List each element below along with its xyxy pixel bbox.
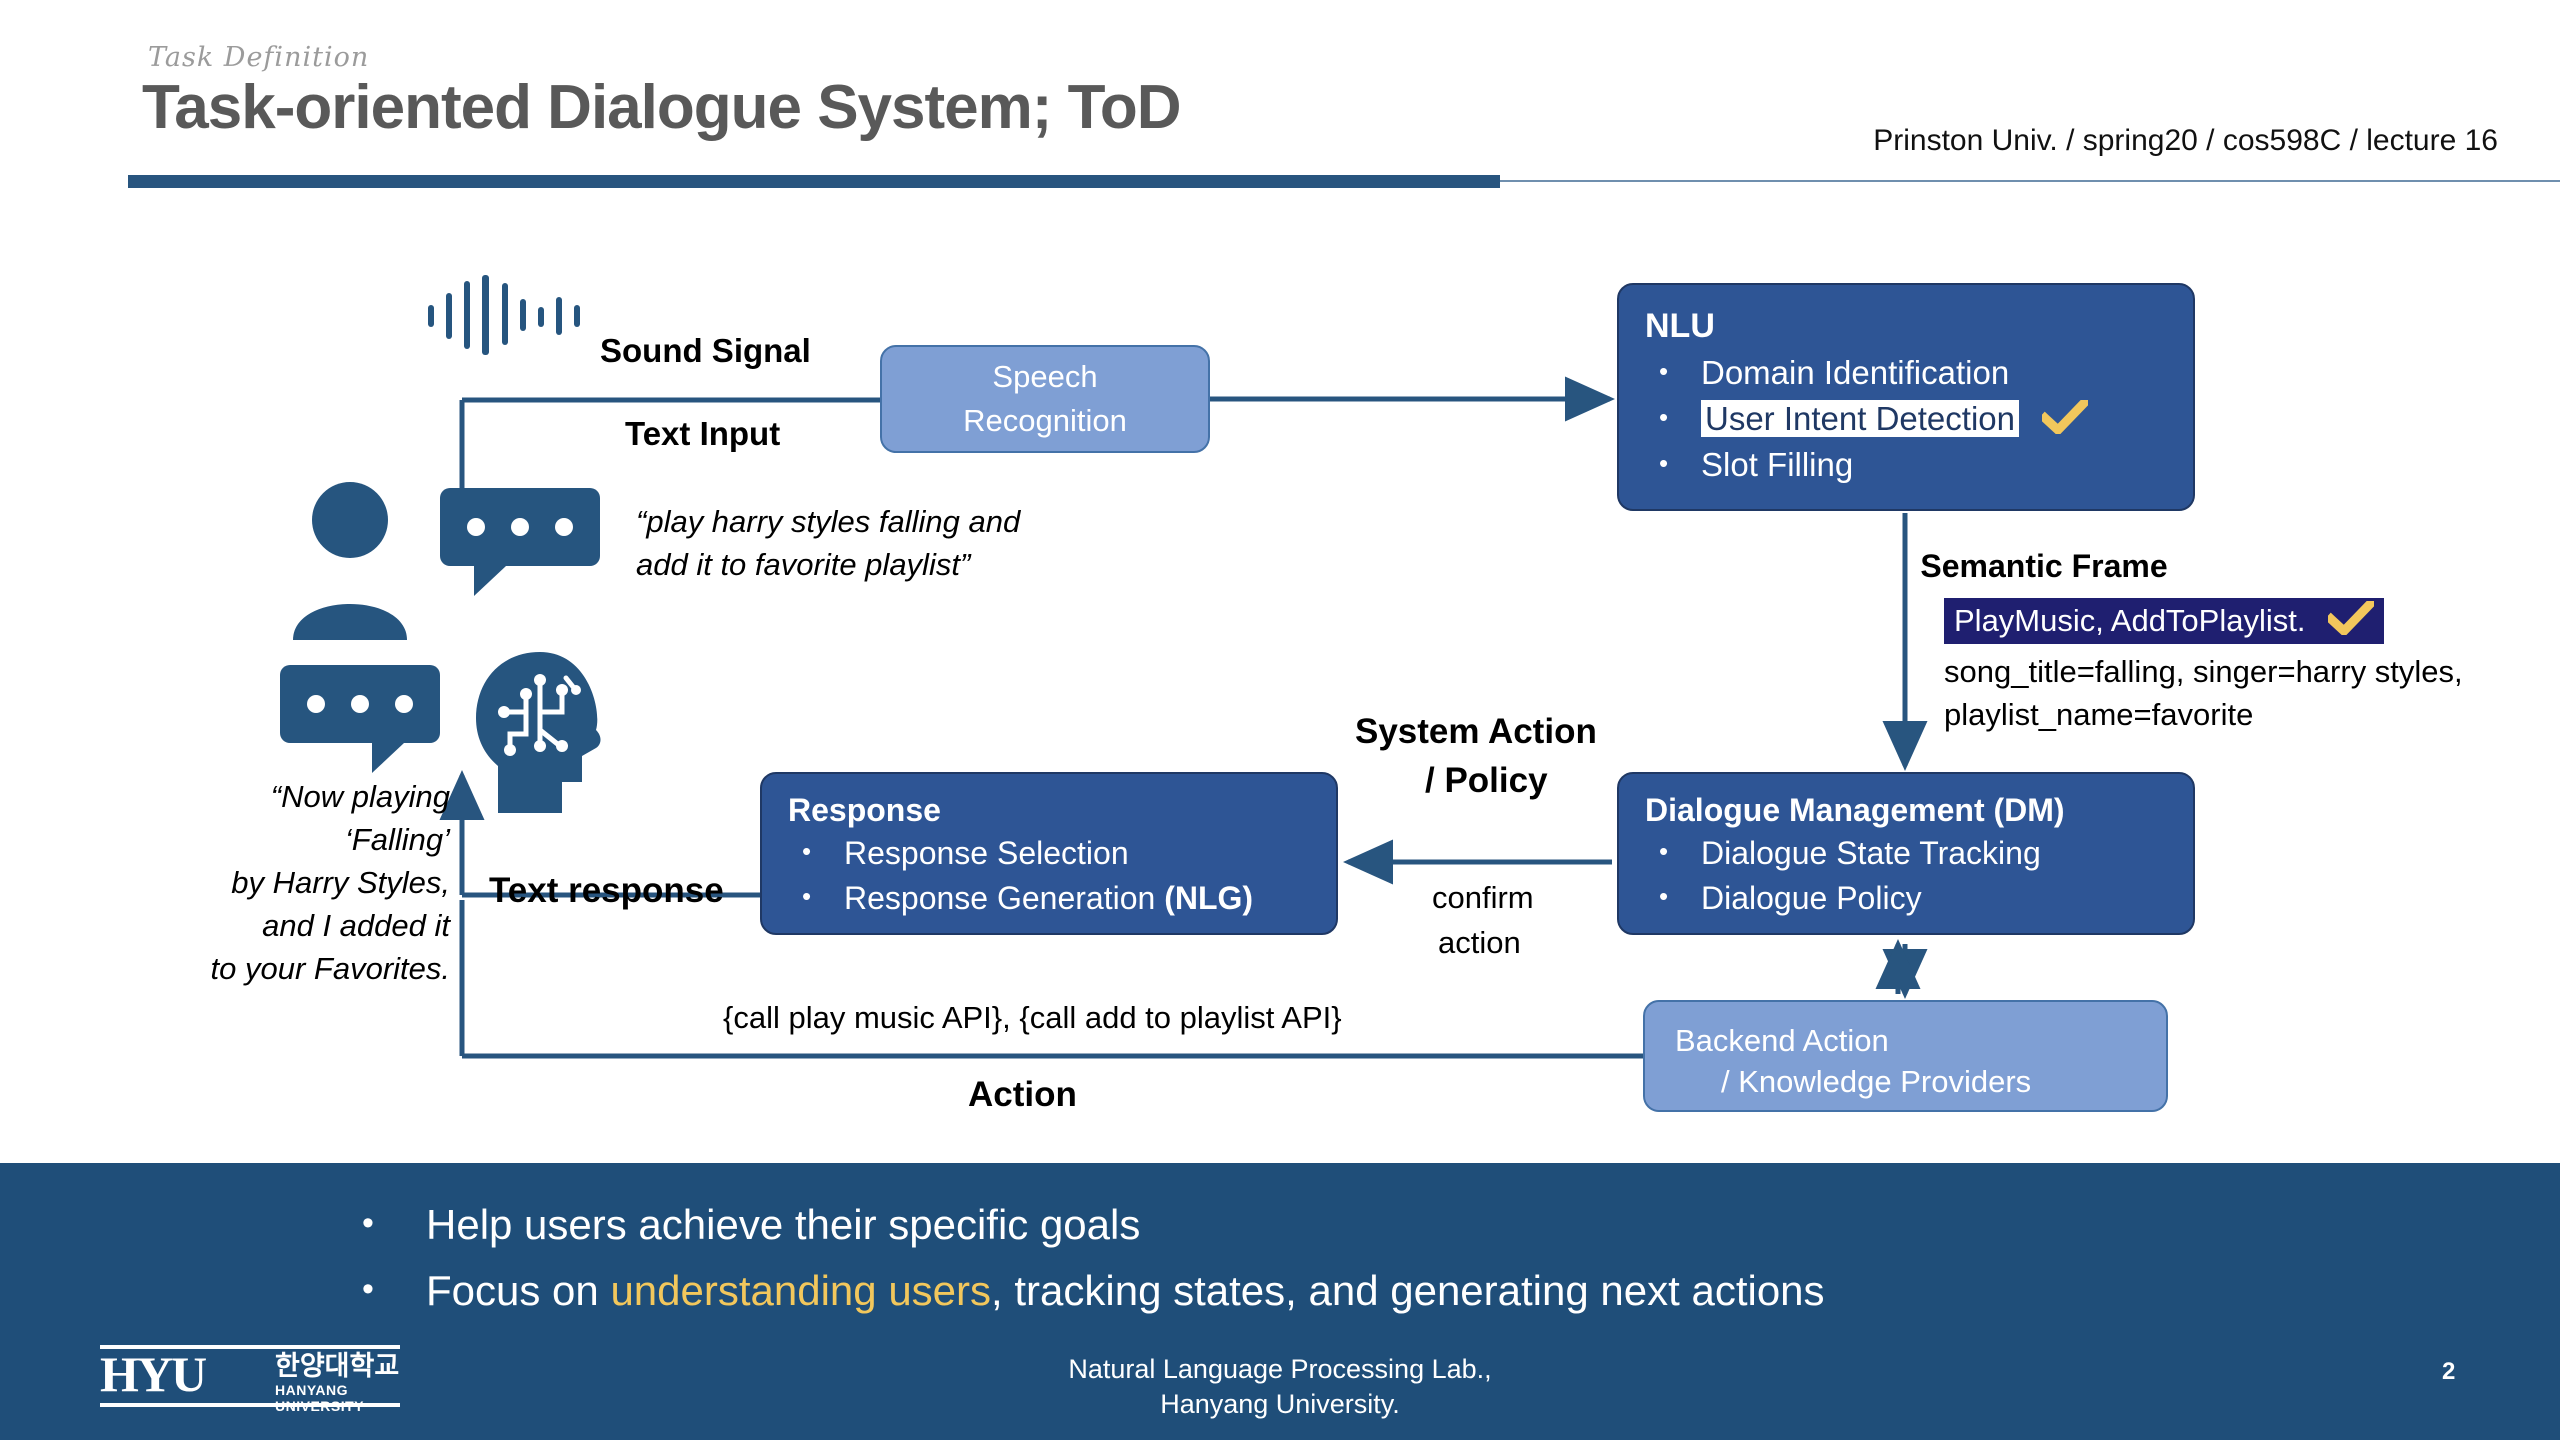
- response-item-response-generation[interactable]: Response Generation (NLG): [788, 876, 1310, 921]
- title-underline-thin: [1500, 180, 2560, 182]
- summary-bullet-1-text: Help users achieve their specific goals: [426, 1201, 1140, 1248]
- slide-kicker: Task Definition: [148, 42, 369, 73]
- summary-bullet-1: Help users achieve their specific goals: [352, 1192, 1825, 1258]
- sound-wave-icon: [428, 275, 618, 355]
- semantic-frame-intents: PlayMusic, AddToPlaylist.: [1954, 603, 2305, 638]
- ai-brain-head-icon: [470, 650, 610, 815]
- speech-recognition-box[interactable]: Speech Recognition: [880, 345, 1210, 453]
- system-action-label-line1: System Action: [1355, 712, 1597, 752]
- dm-item-dialogue-policy[interactable]: Dialogue Policy: [1645, 876, 2167, 921]
- nlu-item-list: Domain Identification User Intent Detect…: [1645, 350, 2167, 488]
- system-action-label-line2: / Policy: [1425, 761, 1548, 801]
- hyu-logo-korean: 한양대학교: [275, 1351, 399, 1381]
- course-info: Prinston Univ. / spring20 / cos598C / le…: [1873, 124, 2498, 158]
- footer-lab-line1: Natural Language Processing Lab.,: [1068, 1352, 1491, 1387]
- nlu-item-slot-filling[interactable]: Slot Filling: [1645, 442, 2167, 488]
- response-box[interactable]: Response Response Selection Response Gen…: [760, 772, 1338, 935]
- nlu-item-label: Slot Filling: [1701, 446, 1853, 483]
- summary-bullet-2-pre: Focus on: [426, 1267, 610, 1314]
- semantic-frame-highlight: PlayMusic, AddToPlaylist.: [1944, 598, 2384, 644]
- hyu-logo: HYU 한양대학교 HANYANG UNIVERSITY: [100, 1345, 400, 1407]
- summary-bullet-2-accent: understanding users: [610, 1267, 991, 1314]
- nlu-item-user-intent-detection[interactable]: User Intent Detection: [1645, 396, 2167, 442]
- summary-bullet-list: Help users achieve their specific goals …: [352, 1192, 1825, 1324]
- title-underline: [128, 175, 1500, 188]
- system-utterance-quote: “Now playing ‘Falling’ by Harry Styles, …: [150, 775, 450, 990]
- action-label: Action: [968, 1075, 1077, 1115]
- dm-item-dialogue-state-tracking[interactable]: Dialogue State Tracking: [1645, 831, 2167, 876]
- response-item-nlg-label: (NLG): [1164, 880, 1253, 916]
- backend-line2: / Knowledge Providers: [1675, 1061, 2136, 1102]
- nlu-item-label: Domain Identification: [1701, 354, 2009, 391]
- nlu-box[interactable]: NLU Domain Identification User Intent De…: [1617, 283, 2195, 511]
- semantic-frame-details: song_title=falling, singer=harry styles,…: [1944, 650, 2463, 736]
- text-input-label: Text Input: [625, 415, 780, 453]
- system-speech-bubble-icon: [280, 665, 440, 743]
- page-number: 2: [2442, 1358, 2455, 1386]
- response-item-response-selection[interactable]: Response Selection: [788, 831, 1310, 876]
- dialogue-management-box[interactable]: Dialogue Management (DM) Dialogue State …: [1617, 772, 2195, 935]
- semantic-frame-details-line2: playlist_name=favorite: [1944, 693, 2463, 736]
- semantic-frame-title: Semantic Frame: [1920, 548, 2167, 585]
- user-utterance-quote: “play harry styles falling and add it to…: [636, 500, 1106, 586]
- hyu-logo-english: HANYANG UNIVERSITY: [275, 1382, 400, 1414]
- dm-item-label: Dialogue State Tracking: [1701, 835, 2041, 871]
- user-speech-bubble-icon: [440, 488, 600, 566]
- nlu-title: NLU: [1645, 307, 2167, 346]
- page-title: Task-oriented Dialogue System; ToD: [142, 72, 1181, 143]
- text-response-label: Text response: [489, 871, 724, 911]
- sound-signal-label: Sound Signal: [600, 332, 811, 370]
- response-title: Response: [788, 792, 1310, 829]
- summary-bullet-2: Focus on understanding users, tracking s…: [352, 1258, 1825, 1324]
- user-avatar-icon: [290, 480, 410, 640]
- response-item-list: Response Selection Response Generation (…: [788, 831, 1310, 921]
- dm-title: Dialogue Management (DM): [1645, 792, 2167, 829]
- speech-recognition-line1: Speech: [992, 355, 1097, 399]
- backend-line1: Backend Action: [1675, 1020, 2136, 1061]
- semantic-frame-details-line1: song_title=falling, singer=harry styles,: [1944, 650, 2463, 693]
- dm-item-list: Dialogue State Tracking Dialogue Policy: [1645, 831, 2167, 921]
- hyu-logo-text: HYU: [100, 1351, 205, 1397]
- checkmark-icon: [2328, 601, 2374, 635]
- response-item-label: Response Generation: [844, 880, 1164, 916]
- footer-lab-info: Natural Language Processing Lab., Hanyan…: [1068, 1352, 1491, 1422]
- confirm-action-line2: action: [1438, 925, 1521, 961]
- summary-bullet-2-post: , tracking states, and generating next a…: [991, 1267, 1825, 1314]
- footer-lab-line2: Hanyang University.: [1068, 1387, 1491, 1422]
- speech-recognition-line2: Recognition: [963, 399, 1127, 443]
- api-call-label: {call play music API}, {call add to play…: [723, 1000, 1342, 1036]
- slide: Task Definition Task-oriented Dialogue S…: [0, 0, 2560, 1440]
- backend-action-box[interactable]: Backend Action / Knowledge Providers: [1643, 1000, 2168, 1112]
- response-item-label: Response Selection: [844, 835, 1129, 871]
- confirm-action-line1: confirm: [1432, 880, 1534, 916]
- checkmark-icon: [2042, 400, 2088, 434]
- nlu-item-domain-identification[interactable]: Domain Identification: [1645, 350, 2167, 396]
- nlu-item-label-highlighted: User Intent Detection: [1701, 400, 2019, 437]
- dm-item-label: Dialogue Policy: [1701, 880, 1922, 916]
